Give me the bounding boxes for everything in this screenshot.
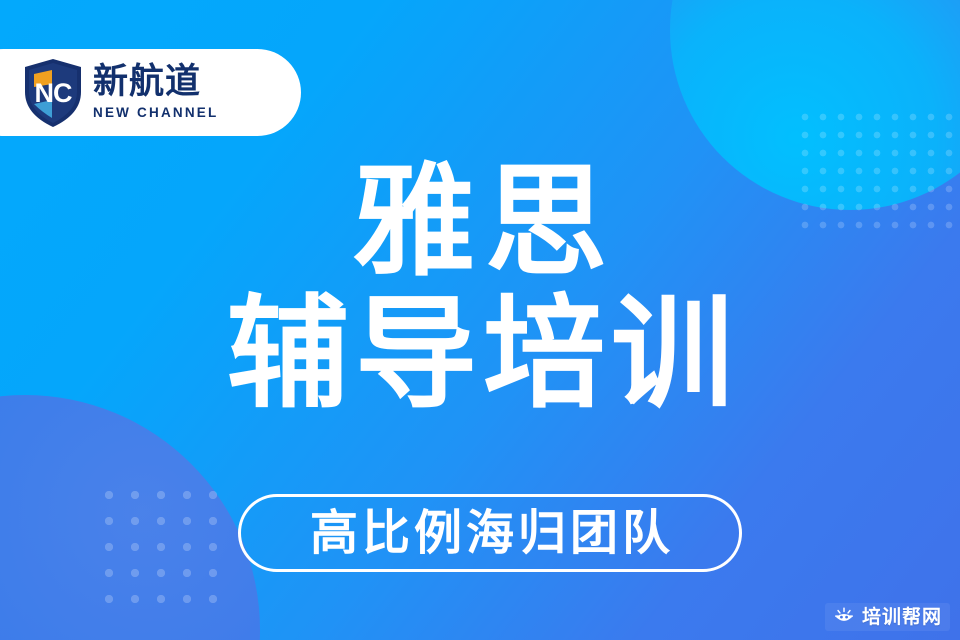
svg-text:NC: NC: [35, 78, 72, 108]
shield-nc-logo-icon: NC: [22, 58, 84, 128]
headline-line-2: 辅导培训: [0, 292, 960, 418]
dot-grid-bottom-left: [96, 482, 226, 604]
tagline-pill: 高比例海归团队: [238, 494, 742, 572]
brand-logo-lockup: NC 新航道 NEW CHANNEL: [22, 58, 218, 128]
headline-line-1: 雅思: [0, 160, 960, 286]
headline-block: 雅思 辅导培训: [0, 160, 960, 417]
watermark: 培训帮网: [825, 603, 950, 631]
sun-face-icon: [833, 606, 855, 628]
poster-canvas: NC 新航道 NEW CHANNEL 雅思 辅导培训 高比例海归团队: [0, 0, 960, 640]
brand-name-en: NEW CHANNEL: [93, 106, 218, 120]
tagline-text: 高比例海归团队: [306, 509, 674, 557]
brand-name-cn: 新航道: [93, 65, 218, 100]
brand-logo-text: 新航道 NEW CHANNEL: [93, 65, 218, 120]
brand-logo-pill: NC 新航道 NEW CHANNEL: [0, 49, 301, 136]
watermark-text: 培训帮网: [862, 608, 942, 627]
